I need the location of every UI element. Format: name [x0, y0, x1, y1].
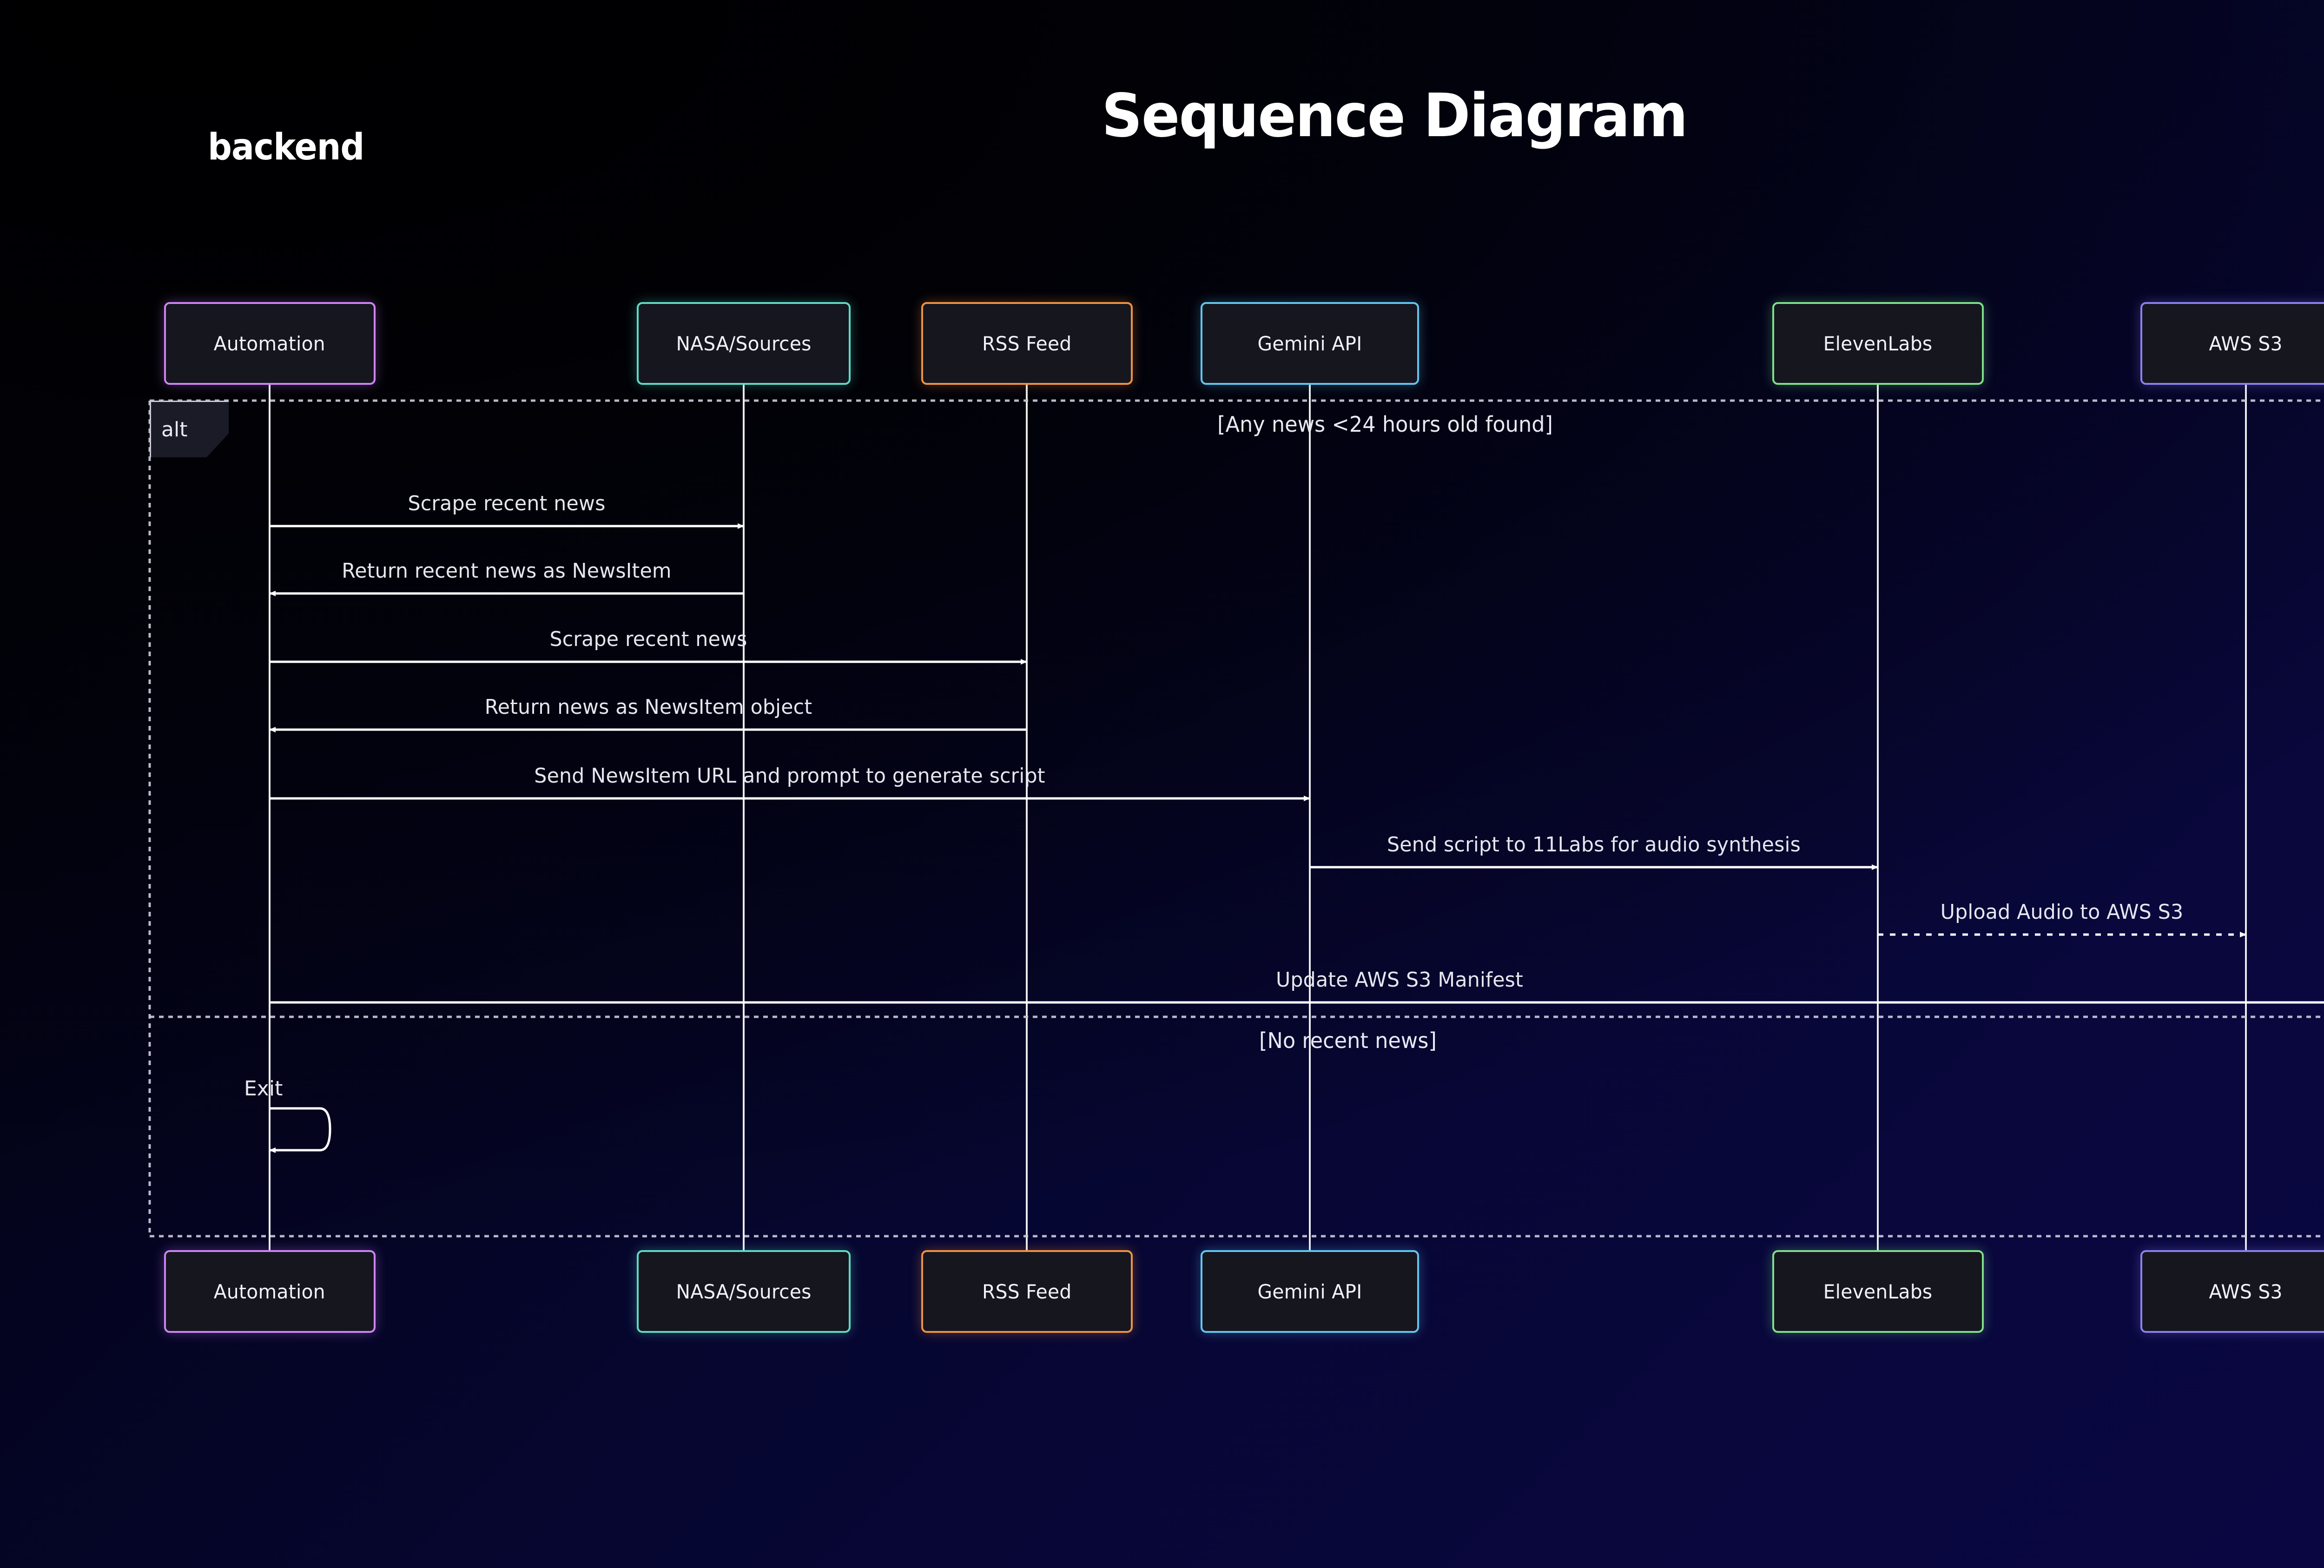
participant-top-nasa[interactable]: NASA/Sources: [637, 302, 851, 385]
alt-condition-1-text: [No recent news]: [1259, 1028, 1437, 1053]
participant-top-elevenlabs[interactable]: ElevenLabs: [1772, 302, 1984, 385]
participant-label-rss: RSS Feed: [982, 1280, 1072, 1303]
participant-bottom-rss[interactable]: RSS Feed: [921, 1250, 1133, 1333]
participant-bottom-gemini[interactable]: Gemini API: [1201, 1250, 1419, 1333]
message-label-2-text: Scrape recent news: [549, 627, 747, 651]
message-label-1-text: Return recent news as NewsItem: [342, 559, 671, 583]
participant-label-automation: Automation: [214, 332, 325, 355]
participant-label-awss3: AWS S3: [2209, 1280, 2283, 1303]
participant-label-elevenlabs: ElevenLabs: [1823, 332, 1933, 355]
message-label-5: Send script to 11Labs for audio synthesi…: [1380, 833, 1807, 856]
alt-condition-0-text: [Any news <24 hours old found]: [1217, 412, 1553, 437]
participant-top-rss[interactable]: RSS Feed: [921, 302, 1133, 385]
alt-condition-0: [Any news <24 hours old found]: [1212, 412, 1558, 437]
participant-top-gemini[interactable]: Gemini API: [1201, 302, 1419, 385]
participant-top-automation[interactable]: Automation: [164, 302, 376, 385]
participant-top-awss3[interactable]: AWS S3: [2140, 302, 2324, 385]
message-label-7: Update AWS S3 Manifest: [1272, 968, 1527, 992]
participant-label-nasa: NASA/Sources: [676, 332, 811, 355]
participant-bottom-awss3[interactable]: AWS S3: [2140, 1250, 2324, 1333]
message-label-3-text: Return news as NewsItem object: [484, 695, 812, 719]
message-label-2: Scrape recent news: [546, 627, 750, 651]
message-label-0: Scrape recent news: [405, 492, 608, 515]
participant-bottom-elevenlabs[interactable]: ElevenLabs: [1772, 1250, 1984, 1333]
participant-label-automation: Automation: [214, 1280, 325, 1303]
participant-label-awss3: AWS S3: [2209, 332, 2283, 355]
participant-bottom-automation[interactable]: Automation: [164, 1250, 376, 1333]
alt-fragment-label-text: alt: [161, 418, 187, 441]
participant-label-gemini: Gemini API: [1257, 332, 1362, 355]
participant-label-nasa: NASA/Sources: [676, 1280, 811, 1303]
participant-label-gemini: Gemini API: [1257, 1280, 1362, 1303]
diagram-canvas: backend Sequence Diagram AutomationNASA/…: [0, 0, 2324, 1568]
message-label-0-text: Scrape recent news: [408, 492, 605, 515]
participant-label-rss: RSS Feed: [982, 332, 1072, 355]
message-label-6-text: Upload Audio to AWS S3: [1941, 900, 2184, 924]
participant-label-elevenlabs: ElevenLabs: [1823, 1280, 1933, 1303]
self-message-loop-0: [270, 1108, 330, 1150]
message-label-5-text: Send script to 11Labs for audio synthesi…: [1387, 833, 1801, 856]
alt-condition-1: [No recent news]: [1256, 1028, 1439, 1053]
message-label-7-text: Update AWS S3 Manifest: [1276, 968, 1523, 992]
message-arrows-group: [270, 526, 2324, 1150]
self-message-label-0-text: Exit: [244, 1077, 283, 1100]
message-label-6: Upload Audio to AWS S3: [1937, 900, 2187, 924]
message-label-1: Return recent news as NewsItem: [337, 559, 676, 583]
self-message-label-0: Exit: [244, 1077, 283, 1100]
message-label-4-text: Send NewsItem URL and prompt to generate…: [534, 764, 1045, 788]
participant-bottom-nasa[interactable]: NASA/Sources: [637, 1250, 851, 1333]
message-label-3: Return news as NewsItem object: [479, 695, 817, 719]
message-label-4: Send NewsItem URL and prompt to generate…: [526, 764, 1053, 788]
